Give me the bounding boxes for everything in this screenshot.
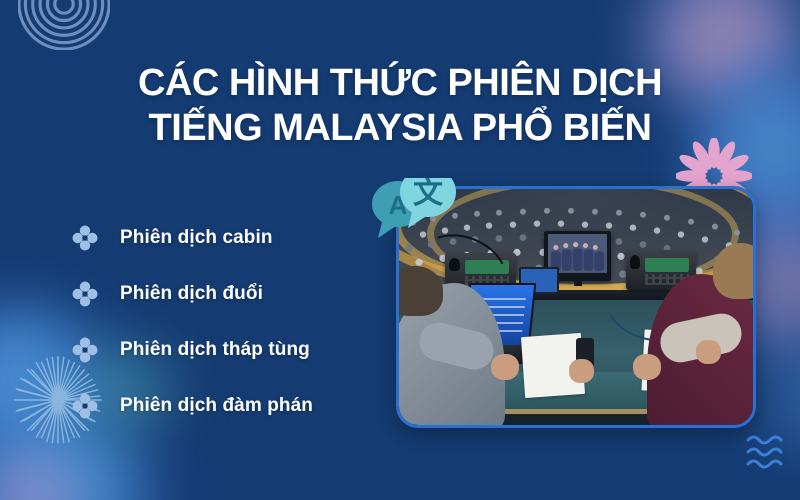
translate-icon: A 文 [368, 178, 460, 260]
four-petal-flower-icon [72, 337, 98, 363]
list-item-label: Phiên dịch tháp tùng [120, 339, 310, 361]
translate-cjk-glyph: 文 [413, 178, 443, 210]
infographic-canvas: CÁC HÌNH THỨC PHIÊN DỊCH TIẾNG MALAYSIA … [0, 0, 800, 500]
console-knob [630, 255, 641, 269]
wave-lines-icon [745, 432, 789, 472]
hand [696, 340, 721, 364]
concentric-ripples-icon [18, 0, 110, 50]
hand [633, 354, 661, 380]
list-item[interactable]: Phiên dịch đuổi [72, 268, 402, 320]
title-line-2: TIẾNG MALAYSIA PHỔ BIẾN [0, 106, 800, 150]
hand [491, 354, 519, 380]
hand [569, 359, 594, 383]
four-petal-flower-icon [72, 393, 98, 419]
list-item[interactable]: Phiên dịch tháp tùng [72, 324, 402, 376]
title-line-1: CÁC HÌNH THỨC PHIÊN DỊCH [0, 61, 800, 105]
list-item-label: Phiên dịch đàm phán [120, 395, 313, 417]
four-petal-flower-icon [72, 225, 98, 251]
list-item[interactable]: Phiên dịch cabin [72, 212, 402, 264]
monitor-stand [574, 281, 582, 286]
console-display [645, 258, 689, 272]
interpreter-left-arm [415, 319, 497, 374]
list-item-label: Phiên dịch cabin [120, 227, 273, 249]
page-title: CÁC HÌNH THỨC PHIÊN DỊCH TIẾNG MALAYSIA … [0, 61, 800, 149]
gradient-blob [0, 455, 90, 500]
interpretation-types-list: Phiên dịch cabin Phiên dịch đuổi Phi [72, 212, 402, 436]
list-item[interactable]: Phiên dịch đàm phán [72, 380, 402, 432]
list-item-label: Phiên dịch đuổi [120, 283, 263, 305]
four-petal-flower-icon [72, 281, 98, 307]
